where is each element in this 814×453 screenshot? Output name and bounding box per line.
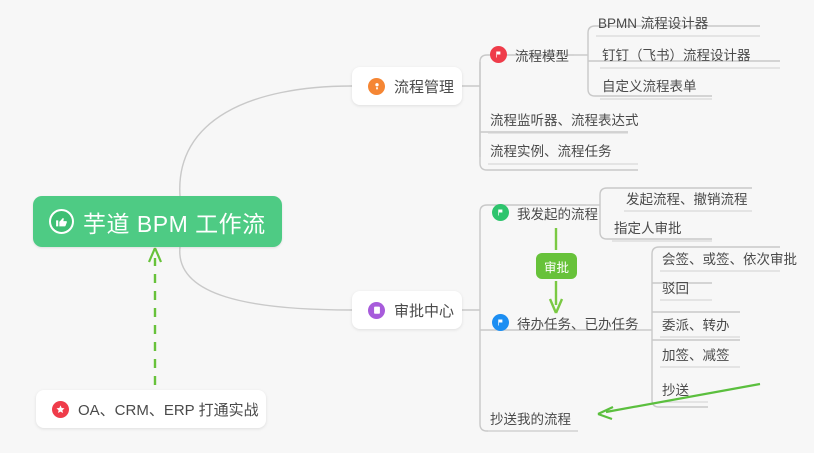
branch-approval-center-label: 审批中心 <box>394 300 454 321</box>
node-instance-task[interactable]: 流程实例、流程任务 <box>488 136 612 163</box>
clipboard-icon <box>368 302 385 319</box>
integration-arrow <box>149 248 161 385</box>
star-icon <box>52 401 69 418</box>
node-assignee-approval[interactable]: 指定人审批 <box>612 213 682 240</box>
node-process-model[interactable]: 流程模型 <box>488 41 569 68</box>
node-todo-done-tasks[interactable]: 待办任务、已办任务 <box>490 309 639 336</box>
node-start-cancel-process[interactable]: 发起流程、撤销流程 <box>624 184 748 211</box>
node-process-model-label: 流程模型 <box>515 45 569 65</box>
branch-approval-center[interactable]: 审批中心 <box>352 291 462 329</box>
node-delegate-transfer[interactable]: 委派、转办 <box>660 310 730 337</box>
node-todo-done-tasks-label: 待办任务、已办任务 <box>517 313 639 333</box>
branch-flow-management-label: 流程管理 <box>394 76 454 97</box>
node-dingtalk-feishu-designer[interactable]: 钉钉（飞书）流程设计器 <box>600 40 751 67</box>
node-reject[interactable]: 驳回 <box>660 273 689 300</box>
thumbs-up-icon <box>49 209 74 234</box>
node-add-remove-sign[interactable]: 加签、减签 <box>660 340 730 367</box>
mindmap-canvas: 芋道 BPM 工作流 流程管理 审批中心 OA、CRM、ERP 打通实战 <box>0 0 814 453</box>
node-my-initiated[interactable]: 我发起的流程 <box>490 199 598 226</box>
pin-icon <box>368 78 385 95</box>
node-countersign[interactable]: 会签、或签、依次审批 <box>660 244 797 271</box>
node-cc-to-me[interactable]: 抄送我的流程 <box>488 404 571 431</box>
node-custom-form[interactable]: 自定义流程表单 <box>600 71 697 98</box>
flag-red-icon <box>490 46 507 63</box>
approval-badge-label: 审批 <box>544 257 569 276</box>
flag-green-icon <box>492 204 509 221</box>
branch-flow-management[interactable]: 流程管理 <box>352 67 462 105</box>
integration-node[interactable]: OA、CRM、ERP 打通实战 <box>36 390 266 428</box>
flag-blue-icon <box>492 314 509 331</box>
root-node[interactable]: 芋道 BPM 工作流 <box>33 196 282 247</box>
approval-badge: 审批 <box>536 253 577 279</box>
node-my-initiated-label: 我发起的流程 <box>517 203 598 223</box>
root-label: 芋道 BPM 工作流 <box>83 205 266 239</box>
node-cc[interactable]: 抄送 <box>660 375 689 402</box>
node-listener-expression[interactable]: 流程监听器、流程表达式 <box>488 105 639 132</box>
node-bpmn-designer[interactable]: BPMN 流程设计器 <box>596 8 708 35</box>
integration-label: OA、CRM、ERP 打通实战 <box>78 399 259 420</box>
